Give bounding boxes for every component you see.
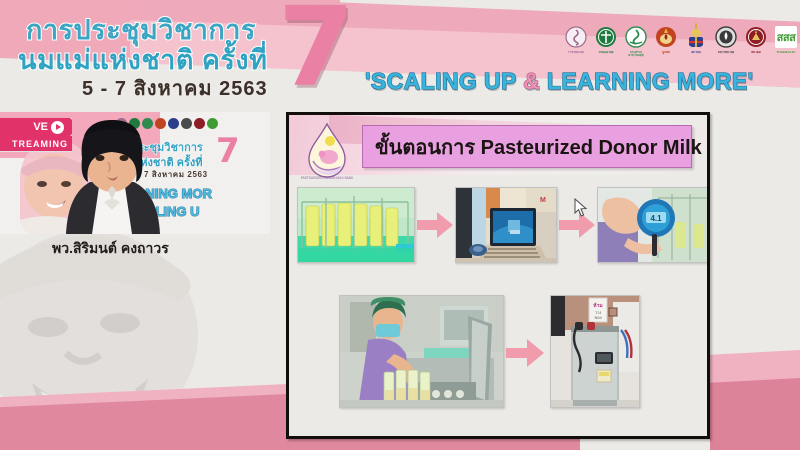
slide-title-text: ขั้นตอนการ Pasteurized Donor Milk: [375, 131, 702, 163]
slide-title-box: ขั้นตอนการ Pasteurized Donor Milk: [362, 125, 692, 168]
conference-tagline: 'SCALING UP & LEARNING MORE': [365, 68, 753, 95]
process-arrow-3: [504, 335, 550, 369]
mouse-pointer: [574, 198, 588, 218]
sponsor-logo: สมาคม: [743, 26, 769, 58]
play-icon: [51, 121, 64, 134]
process-row-2: ห้าม วาง ของ: [339, 295, 640, 408]
live-streaming-badge: VE TREAMING: [0, 118, 72, 152]
sponsor-logo-caption: มหาวิทยาลัย: [713, 51, 739, 58]
sponsor-logos-row: ราชวิทยาลัย กรมอนามัย กระทรวงสาธารณสุข ม…: [563, 26, 799, 58]
edition-number: 7: [278, 0, 355, 102]
speaker-video-subject: [56, 118, 168, 234]
milk-bottles-rack-photo: [297, 187, 415, 263]
svg-text:M: M: [540, 197, 546, 204]
sponsor-logo: กรมอนามัย: [593, 26, 619, 58]
svg-text:ห้าม: ห้าม: [593, 302, 602, 309]
sponsor-logo: ราชวิทยาลัย: [563, 26, 589, 58]
sponsor-logo: มหาวิทยาลัย: [713, 26, 739, 58]
live-video-feed[interactable]: การประชุมวิชาการ นมแม่แห่งชาติ ครั้งที่ …: [0, 112, 270, 234]
sponsor-logo: สถาบัน: [683, 26, 709, 58]
tagline-part-2: LEARNING MORE': [540, 68, 753, 94]
slide-stage: การประชุมวิชาการ นมแม่แห่งชาติ ครั้งที่ …: [0, 0, 800, 450]
sponsor-logo-caption: กรมอนามัย: [593, 51, 619, 58]
streaming-label: TREAMING: [0, 136, 72, 151]
thaihealth-logo: สสส THAIHEALTH: [773, 26, 799, 58]
tagline-part-1: 'SCALING UP: [365, 68, 523, 94]
thaihealth-logo-text: สสส: [777, 28, 796, 46]
drop-logo-caption: PASTEURIZED HUMAN MILK BANK: [301, 176, 354, 180]
conference-date: 5 - 7 สิงหาคม 2563: [82, 72, 268, 104]
process-row-1: M: [297, 187, 710, 263]
live-badge-top: VE: [0, 118, 72, 136]
process-arrow-1: [415, 208, 455, 242]
svg-text:ของ: ของ: [594, 315, 601, 320]
sponsor-logo-caption: กระทรวงสาธารณสุข: [623, 51, 649, 58]
presentation-slide: PASTEURIZED HUMAN MILK BANK ขั้นตอนการ P…: [286, 112, 710, 439]
sponsor-logo: มูลนิธิ: [653, 26, 679, 58]
sponsor-logo: กระทรวงสาธารณสุข: [623, 26, 649, 58]
storage-freezer-photo: ห้าม วาง ของ: [550, 295, 640, 408]
temperature-probe-photo: 4.1: [597, 187, 710, 263]
speaker-name: พว.สิริมนต์ คงถาวร: [52, 238, 169, 260]
sponsor-logo-caption: ราชวิทยาลัย: [563, 51, 589, 58]
video-backdrop-number: 7: [216, 134, 240, 168]
pasteurizer-laptop-photo: M: [455, 187, 557, 263]
live-label: VE: [33, 121, 48, 133]
background-right-band: [710, 378, 800, 450]
nurse-loading-bottles-photo: [339, 295, 504, 408]
sponsor-logo-caption: มูลนิธิ: [653, 51, 679, 58]
tagline-ampersand: &: [523, 68, 540, 94]
sponsor-logo-caption: สถาบัน: [683, 51, 709, 58]
human-milk-bank-drop-logo: PASTEURIZED HUMAN MILK BANK: [299, 121, 355, 183]
svg-text:4.1: 4.1: [650, 214, 662, 223]
sponsor-logo-caption: สมาคม: [743, 51, 769, 58]
